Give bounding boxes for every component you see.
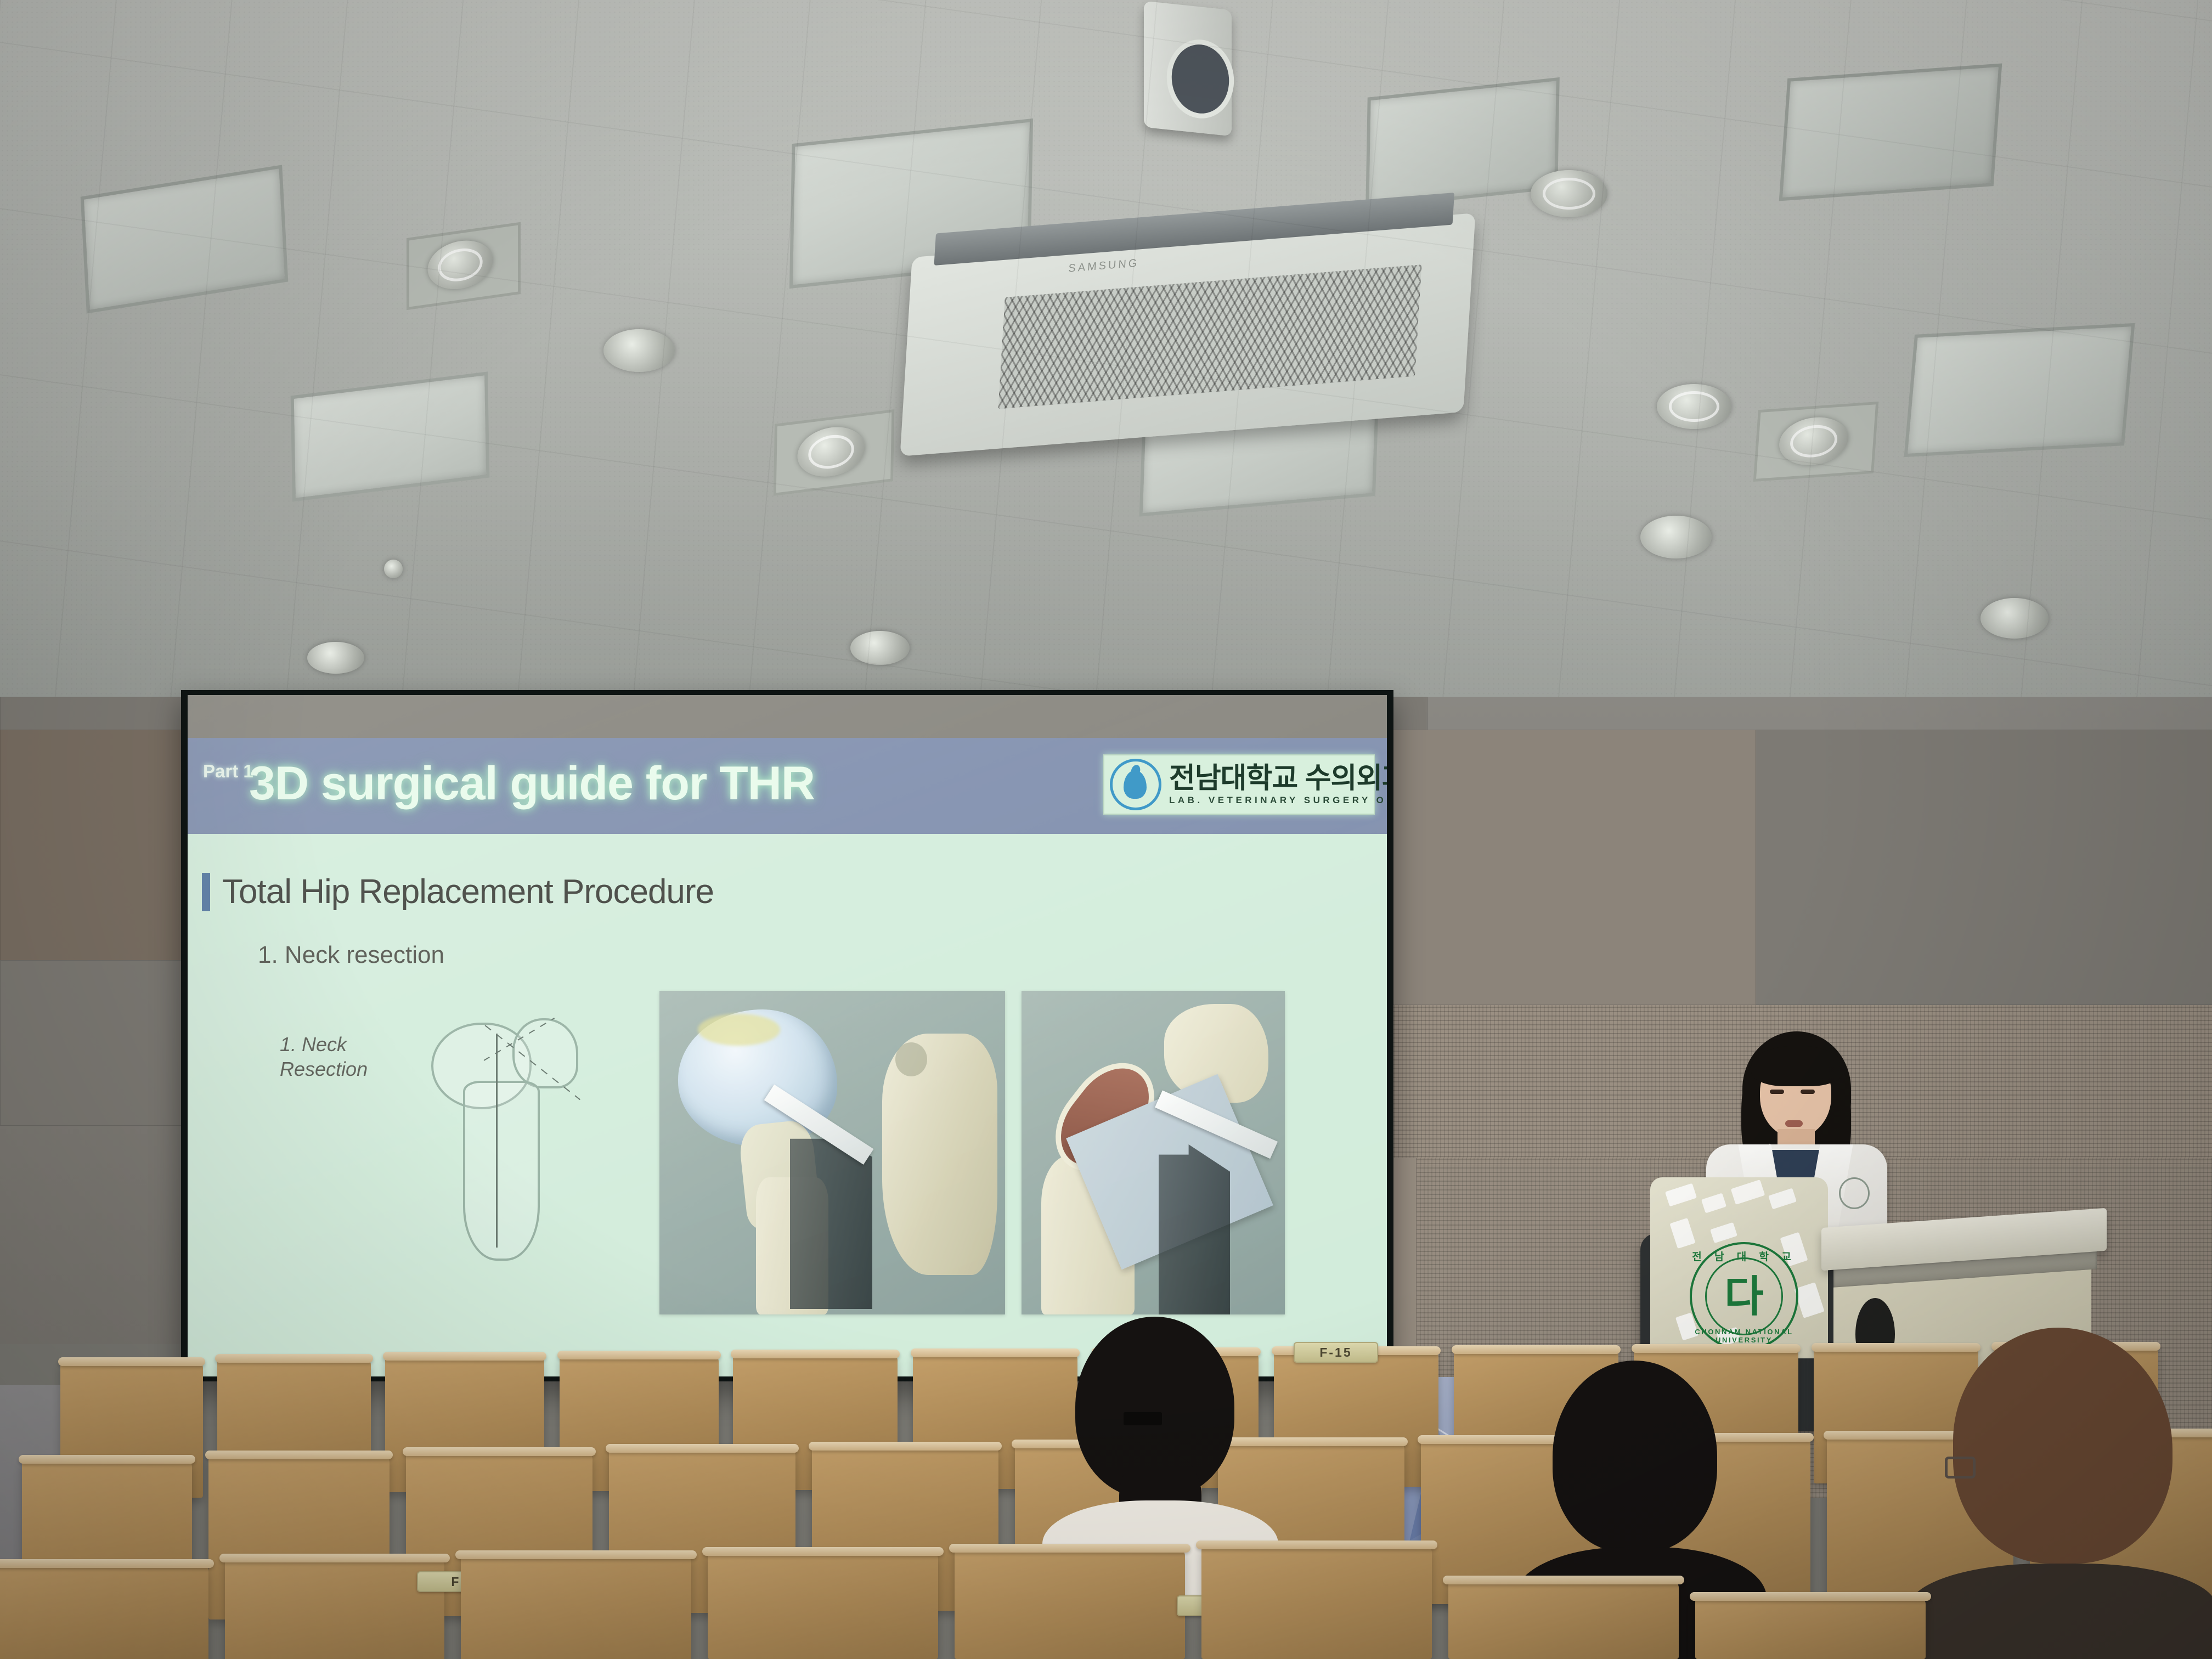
seat-back[interactable]	[1695, 1596, 1926, 1659]
ceiling-downlight-housing	[1753, 402, 1879, 482]
slide-letterbox	[188, 695, 1387, 738]
slide-title: 3D surgical guide for THR	[249, 757, 815, 811]
downlight-icon	[1640, 516, 1712, 558]
greater-trochanter-3d	[882, 1034, 997, 1275]
ceiling-light-panel	[789, 119, 1033, 289]
seat-back[interactable]	[1201, 1545, 1432, 1659]
downlight-icon	[797, 424, 866, 481]
seat-top-rail	[1812, 1343, 1980, 1352]
lab-logo-english-text: LAB. VETERINARY SURGERY OF CNU	[1169, 795, 1387, 805]
slide-section-heading: Total Hip Replacement Procedure	[202, 872, 714, 911]
emblem-letter: 다	[1705, 1257, 1783, 1335]
seat-top-rail	[606, 1444, 799, 1453]
seat-back[interactable]	[1448, 1580, 1679, 1659]
emblem-english-text: CHONNAM NATIONAL UNIVERSITY	[1692, 1328, 1796, 1344]
figure-render-femur-with-cutting-guide	[659, 991, 1005, 1314]
ac-brand-label: SAMSUNG	[1068, 257, 1139, 275]
seat-row-front: F-18 F-17	[0, 1514, 2212, 1659]
slide-header-band: Part 1 3D surgical guide for THR 전남대학교 수…	[188, 738, 1387, 834]
seat-back[interactable]	[225, 1558, 444, 1659]
seat-top-rail	[557, 1351, 721, 1359]
lab-logo-korean-text: 전남대학교 수의외과학교실	[1169, 764, 1387, 793]
figure-render-resected-neck-with-guide	[1022, 991, 1285, 1314]
seat-top-rail	[58, 1357, 205, 1366]
section-accent-bar	[202, 873, 210, 911]
seat-top-rail	[215, 1354, 373, 1363]
seat-top-rail	[911, 1348, 1080, 1357]
seat-top-rail	[219, 1554, 450, 1562]
slide-step-label: 1. Neck resection	[258, 941, 444, 969]
ceiling-air-conditioner: SAMSUNG	[900, 213, 1475, 456]
presenter-fringe	[1751, 1046, 1843, 1086]
seat-back[interactable]	[708, 1551, 938, 1659]
downlight-icon	[850, 631, 910, 665]
ceiling-tile-grain	[0, 0, 2212, 708]
downlight-icon	[307, 642, 364, 674]
lectern-front-panel: 전 남 대 학 교 다 CHONNAM NATIONAL UNIVERSITY	[1650, 1177, 1828, 1358]
projector-lens-icon	[1162, 35, 1239, 123]
seat-top-rail	[0, 1559, 214, 1568]
ceiling-light-panel	[1365, 77, 1560, 209]
ac-grille	[998, 265, 1421, 409]
seat-back[interactable]	[955, 1548, 1185, 1659]
lecture-hall-photo: SAMSUNG 4단	[0, 0, 2212, 1659]
diagram-caption-line1: 1. Neck	[280, 1033, 347, 1056]
seat-top-rail	[1632, 1344, 1801, 1353]
seat-top-rail	[1690, 1592, 1931, 1601]
ac-vent-slot	[934, 193, 1454, 265]
downlight-icon	[603, 329, 675, 372]
seat-top-rail	[403, 1447, 596, 1456]
lab-logo: 전남대학교 수의외과학교실 LAB. VETERINARY SURGERY OF…	[1103, 754, 1375, 815]
seat-top-rail	[19, 1455, 195, 1464]
seat-top-rail	[731, 1350, 900, 1358]
ceiling-light-panel	[1139, 362, 1380, 516]
ceiling-downlight-housing	[407, 222, 521, 311]
seat-top-rail	[1215, 1437, 1408, 1446]
seat-top-rail	[949, 1544, 1190, 1553]
downlight-icon	[1980, 598, 2049, 639]
university-emblem: 전 남 대 학 교 다 CHONNAM NATIONAL UNIVERSITY	[1690, 1242, 1798, 1351]
seat-back[interactable]	[0, 1564, 208, 1659]
dog-silhouette-mark-icon	[1110, 759, 1161, 810]
slide-part-label: Part 1	[203, 761, 253, 782]
seat-top-rail	[205, 1451, 393, 1459]
seat-number-plate: F-15	[1294, 1342, 1378, 1363]
emblem-korean-text: 전 남 대 학 교	[1692, 1249, 1796, 1263]
neck-resection-diagram: 1. Neck Resection	[275, 998, 616, 1273]
downlight-icon	[1657, 384, 1731, 429]
presentation-slide: Part 1 3D surgical guide for THR 전남대학교 수…	[188, 695, 1387, 1376]
presenter-eye-right	[1801, 1090, 1815, 1094]
ceiling-light-panel	[81, 165, 289, 313]
seat-top-rail	[809, 1442, 1002, 1451]
diagram-caption: 1. Neck Resection	[280, 1032, 368, 1081]
guide-body-3d	[1159, 1144, 1230, 1314]
ceiling-downlight-housing	[774, 409, 895, 496]
slide-body: Total Hip Replacement Procedure 1. Neck …	[188, 834, 1387, 1376]
ceiling: SAMSUNG	[0, 0, 2212, 708]
seat-top-rail	[455, 1550, 697, 1559]
seat-top-rail	[1443, 1576, 1684, 1584]
downlight-icon	[384, 560, 403, 578]
downlight-icon	[428, 236, 493, 294]
presenter-mouth	[1785, 1120, 1803, 1127]
seat-top-rail	[702, 1547, 944, 1556]
presenter-eye-left	[1770, 1090, 1784, 1094]
audience-eyeglasses	[1945, 1457, 1976, 1479]
downlight-icon	[1778, 415, 1850, 467]
ceiling-projector-mount	[1144, 5, 1237, 137]
seat-back[interactable]	[461, 1555, 691, 1659]
projection-screen: Part 1 3D surgical guide for THR 전남대학교 수…	[181, 690, 1393, 1381]
diagram-caption-line2: Resection	[280, 1058, 368, 1080]
downlight-icon	[1531, 170, 1607, 217]
wall-panel	[1756, 730, 2212, 1005]
ceiling-light-panel	[291, 371, 490, 501]
seat-top-rail	[1452, 1345, 1621, 1354]
ceiling-light-panel	[1904, 323, 2135, 457]
seat-top-rail	[383, 1352, 546, 1361]
section-heading-text: Total Hip Replacement Procedure	[222, 872, 714, 911]
femur-lineart-icon	[419, 998, 600, 1273]
seat-top-rail	[1196, 1541, 1437, 1549]
ceiling-light-panel	[1779, 64, 2002, 201]
audience-hair-clip	[1124, 1412, 1162, 1425]
